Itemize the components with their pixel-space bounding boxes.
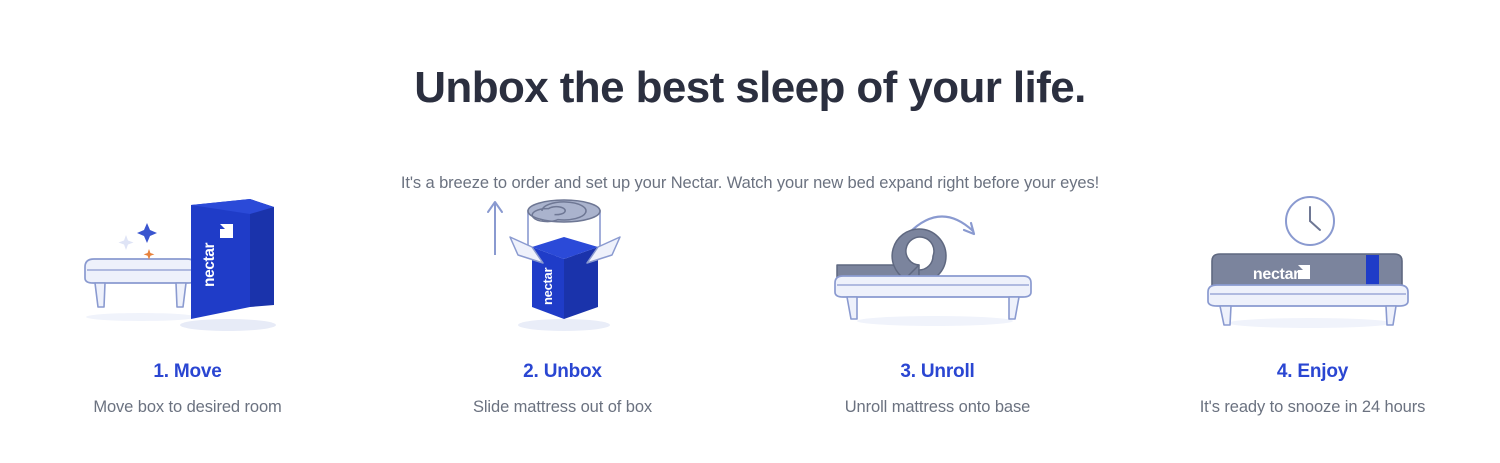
bed-shadow — [1228, 318, 1392, 328]
illustration-unroll — [808, 195, 1068, 335]
box-shadow — [518, 319, 610, 331]
nectar-box-icon: nectar — [191, 199, 274, 319]
step-description: Unroll mattress onto base — [845, 398, 1031, 417]
step-title: 4. Enjoy — [1277, 361, 1348, 383]
illustration-enjoy: nectar — [1183, 195, 1443, 335]
clock-icon — [1286, 197, 1334, 245]
unbox-steps-section: Unbox the best sleep of your life. It's … — [0, 0, 1500, 463]
step-item-move: nectar 1. Move Move box to desired room — [0, 195, 375, 417]
step-description: Slide mattress out of box — [473, 398, 652, 417]
bed-base-icon — [85, 259, 196, 307]
step-title: 3. Unroll — [900, 361, 974, 383]
step-item-enjoy: nectar 4. Enjoy It's ready to snooze in … — [1125, 195, 1500, 417]
box-wordmark: nectar — [540, 268, 555, 305]
section-subtitle: It's a breeze to order and set up your N… — [0, 174, 1500, 193]
step-description: It's ready to snooze in 24 hours — [1200, 398, 1426, 417]
steps-list: nectar 1. Move Move box to desired room — [0, 195, 1500, 417]
step-item-unbox: nectar 2. Unbox Slide mattress out of bo… — [375, 195, 750, 417]
box-shadow — [180, 319, 276, 331]
rolling-mattress-icon — [837, 229, 946, 283]
open-nectar-box-icon: nectar — [510, 237, 620, 319]
step-title: 2. Unbox — [523, 361, 602, 383]
step-title: 1. Move — [153, 361, 221, 383]
bed-shadow — [857, 316, 1013, 326]
illustration-unbox: nectar — [433, 195, 693, 335]
step-item-unroll: 3. Unroll Unroll mattress onto base — [750, 195, 1125, 417]
illustration-move: nectar — [58, 195, 318, 335]
page-title: Unbox the best sleep of your life. — [0, 63, 1500, 114]
mattress-wordmark: nectar — [1252, 266, 1298, 283]
box-wordmark: nectar — [201, 243, 218, 287]
up-arrow-icon — [488, 202, 502, 255]
base-shadow — [86, 313, 196, 321]
bed-base-icon — [835, 276, 1031, 319]
step-description: Move box to desired room — [93, 398, 281, 417]
sparkle-icon — [118, 223, 157, 260]
